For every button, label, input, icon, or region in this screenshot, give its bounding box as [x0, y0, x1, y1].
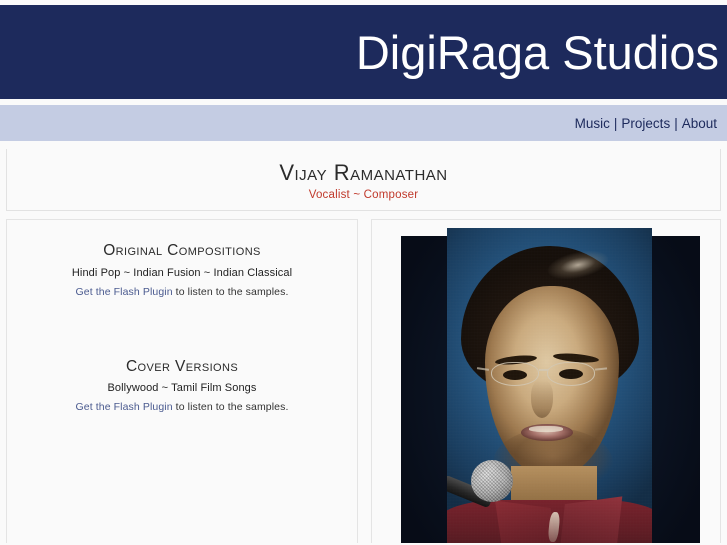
- nav-item-about[interactable]: About: [682, 116, 717, 131]
- primary-navigation: Music | Projects | About: [0, 105, 727, 141]
- artist-role-subtitle: Vocalist ~ Composer: [7, 185, 720, 201]
- section-subtitle-original-compositions: Hindi Pop ~ Indian Fusion ~ Indian Class…: [17, 261, 347, 279]
- section-cover-versions: Cover Versions Bollywood ~ Tamil Film So…: [7, 358, 357, 414]
- section-subtitle-cover-versions: Bollywood ~ Tamil Film Songs: [17, 376, 347, 394]
- artist-photo: [401, 236, 700, 545]
- artist-title-panel: Vijay Ramanathan Vocalist ~ Composer: [6, 149, 721, 211]
- section-original-compositions: Original Compositions Hindi Pop ~ Indian…: [7, 242, 357, 298]
- flash-plugin-link-original[interactable]: Get the Flash Plugin: [76, 286, 173, 298]
- site-masthead: DigiRaga Studios: [0, 5, 727, 99]
- section-note-cover-versions: Get the Flash Plugin to listen to the sa…: [17, 394, 347, 413]
- flash-plugin-link-cover[interactable]: Get the Flash Plugin: [76, 401, 173, 413]
- site-title: DigiRaga Studios: [356, 29, 727, 76]
- section-note-original-compositions: Get the Flash Plugin to listen to the sa…: [17, 279, 347, 298]
- flash-note-rest-cover: to listen to the samples.: [173, 401, 289, 413]
- section-heading-cover-versions: Cover Versions: [17, 358, 347, 377]
- nav-item-music[interactable]: Music: [575, 116, 610, 131]
- photo-image: [447, 228, 652, 545]
- nav-separator: |: [670, 116, 682, 131]
- nav-list: Music | Projects | About: [575, 116, 717, 131]
- flash-note-rest-original: to listen to the samples.: [173, 286, 289, 298]
- nav-item-projects[interactable]: Projects: [621, 116, 670, 131]
- nav-separator: |: [610, 116, 622, 131]
- page-title: Vijay Ramanathan: [7, 149, 720, 185]
- section-heading-original-compositions: Original Compositions: [17, 242, 347, 261]
- music-sections-column: Original Compositions Hindi Pop ~ Indian…: [6, 219, 358, 545]
- photo-grain-overlay: [447, 228, 652, 545]
- artist-photo-column: [371, 219, 721, 545]
